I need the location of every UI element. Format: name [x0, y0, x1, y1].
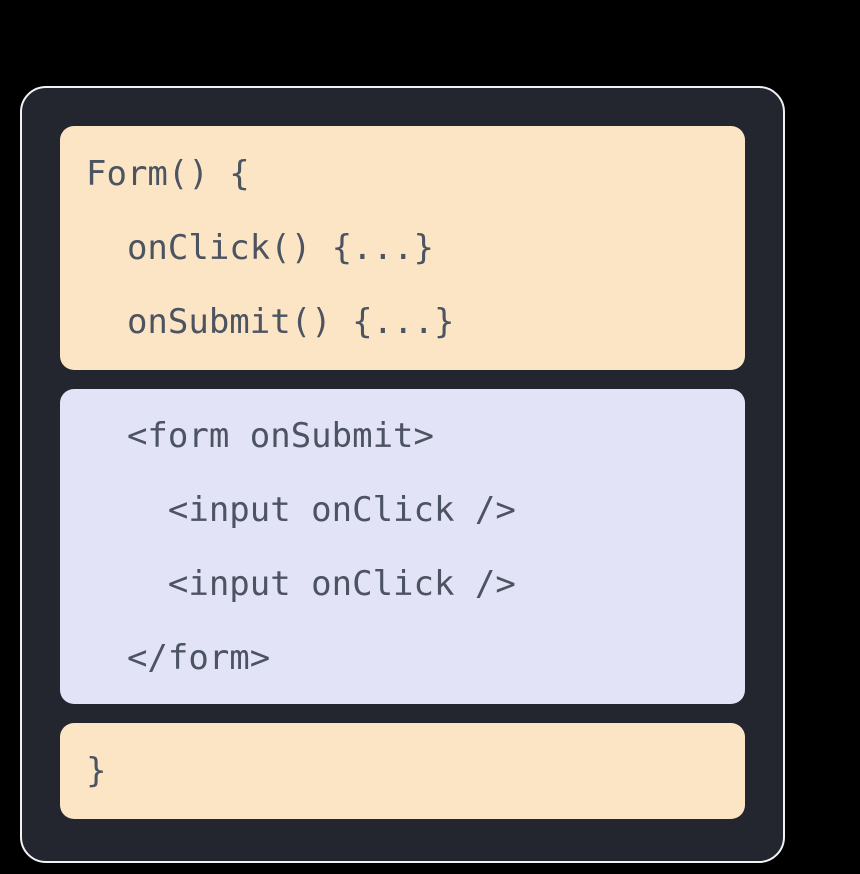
code-line: </form> [86, 621, 719, 695]
code-line: } [86, 745, 719, 797]
code-panel-markup: <form onSubmit> <input onClick /> <input… [60, 389, 745, 704]
code-line: <input onClick /> [86, 547, 719, 621]
diagram-canvas: Form() { onClick() {...} onSubmit() {...… [0, 0, 860, 874]
code-line: <form onSubmit> [86, 399, 719, 473]
code-line: Form() { [86, 137, 719, 211]
code-panel-component-head: Form() { onClick() {...} onSubmit() {...… [60, 126, 745, 370]
code-line: <input onClick /> [86, 473, 719, 547]
code-card: Form() { onClick() {...} onSubmit() {...… [20, 86, 785, 863]
code-line: onSubmit() {...} [86, 285, 719, 359]
code-line: onClick() {...} [86, 211, 719, 285]
code-panel-component-tail: } [60, 723, 745, 819]
